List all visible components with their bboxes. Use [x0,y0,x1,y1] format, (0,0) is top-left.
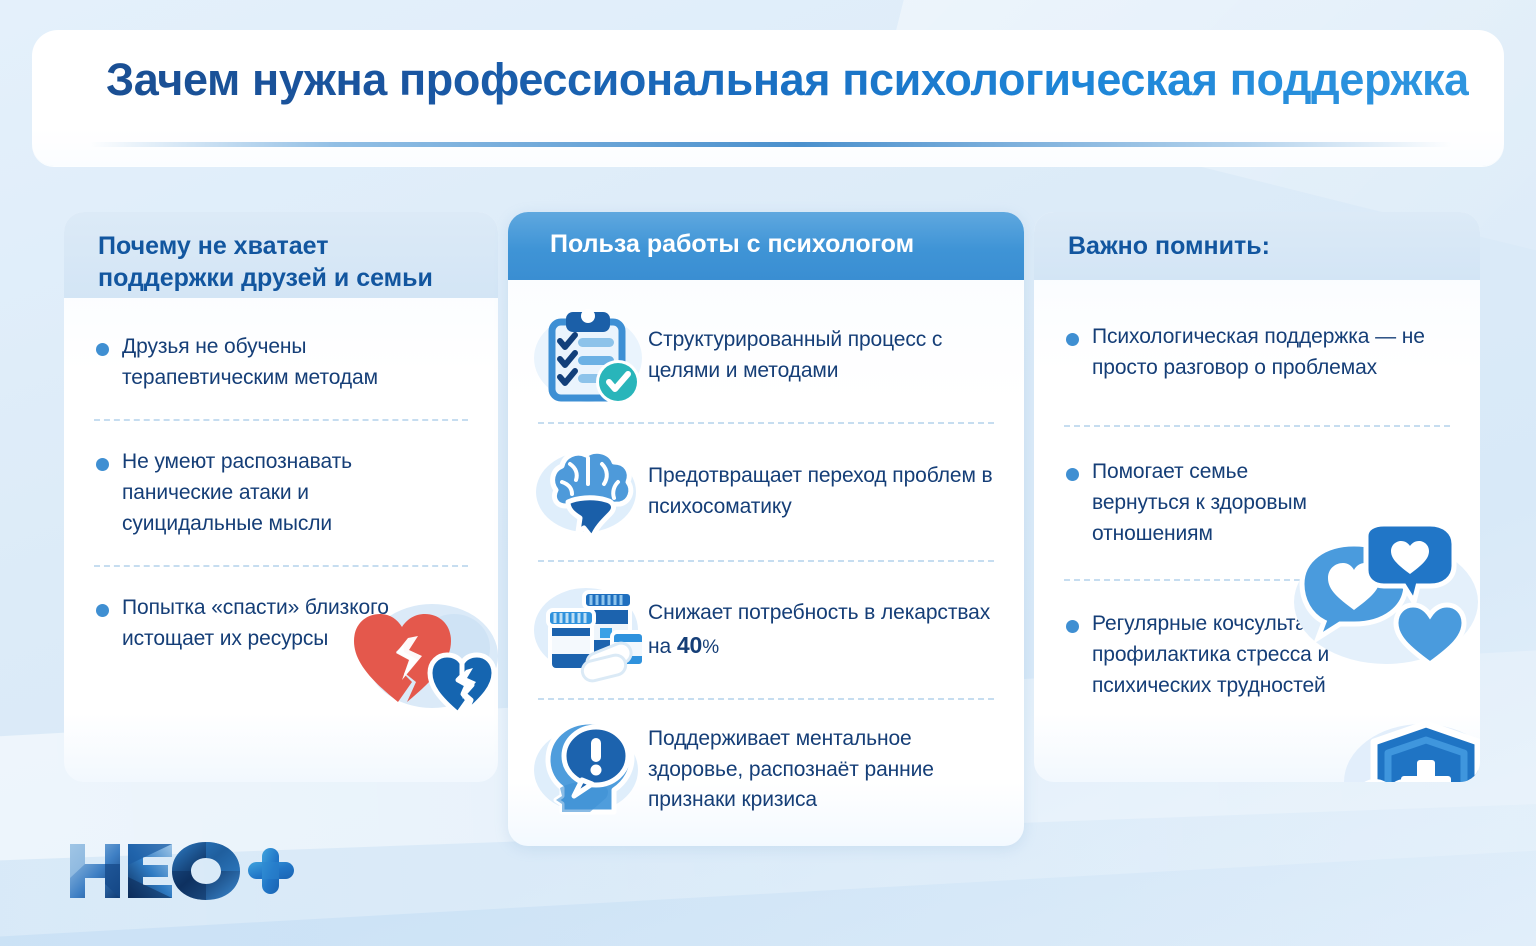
head-alert-icon [530,716,648,824]
list-item: Друзья не обучены терапевтическим метода… [64,332,498,393]
divider [538,560,994,562]
list-item: Предотвращает переход проблем в психосом… [508,438,1024,546]
shield-heart-icon [1330,718,1480,782]
column-left: Почему не хватает поддержки друзей и сем… [64,212,498,782]
column-left-header: Почему не хватает поддержки друзей и сем… [64,212,498,298]
list-item-label: Помогает семье вернуться к здоровым отно… [1092,457,1317,549]
divider [538,698,994,700]
column-right: Важно помнить: Психологическая поддержка… [1034,212,1480,782]
page-title: Зачем нужна профессиональная психологиче… [106,54,1469,106]
list-item-label: Регулярные кочсультации — профилактика с… [1092,609,1392,701]
list-item: Регулярные кочсультации — профилактика с… [1034,609,1480,701]
divider [1064,425,1450,427]
logo-neo-plus [66,838,296,904]
divider [94,565,468,567]
list-item: Структурированный процесс с целями и мет… [508,302,1024,410]
column-middle-header: Польза работы с психологом [508,212,1024,280]
list-item-label: Друзья не обучены терапевтическим метода… [122,332,472,393]
list-item: Снижает потребность в лекарствах на 40% [508,576,1024,684]
column-right-header: Важно помнить: [1034,212,1480,280]
divider [538,422,994,424]
bullet-dot-icon [96,604,109,617]
brain-icon [530,438,648,546]
bullet-dot-icon [1066,468,1079,481]
divider [1064,579,1450,581]
list-item-label: Снижает потребность в лекарствах на 40% [648,598,1000,662]
bullet-dot-icon [96,458,109,471]
bullet-dot-icon [1066,620,1079,633]
title-underline [90,142,1452,147]
list-item-label: Попытка «спасти» близкого истощает их ре… [122,593,472,654]
column-left-header-line2: поддержки друзей и семьи [98,262,464,294]
list-item-label: Не умеют распознавать панические атаки и… [122,447,402,539]
column-middle: Польза работы с психологом [508,212,1024,846]
column-right-body: Психологическая поддержка — не просто ра… [1034,322,1480,701]
column-left-header-line1: Почему не хватает [98,230,464,262]
list-item: Попытка «спасти» близкого истощает их ре… [64,593,498,654]
infographic-page: Зачем нужна профессиональная психологиче… [0,0,1536,946]
list-item-label: Структурированный процесс с целями и мет… [648,325,1000,386]
bullet-dot-icon [1066,333,1079,346]
list-item: Помогает семье вернуться к здоровым отно… [1034,457,1480,549]
list-item-label: Психологическая поддержка — не просто ра… [1092,322,1454,383]
bullet-dot-icon [96,343,109,356]
column-middle-body: Структурированный процесс с целями и мет… [508,302,1024,824]
list-item: Поддерживает ментальное здоровье, распоз… [508,716,1024,824]
divider [94,419,468,421]
title-band: Зачем нужна профессиональная психологиче… [32,30,1504,166]
percent-sign: % [702,637,719,658]
list-item: Не умеют распознавать панические атаки и… [64,447,498,539]
list-item: Психологическая поддержка — не просто ра… [1034,322,1480,383]
highlight-value: 40 [677,632,702,658]
list-item-label: Поддерживает ментальное здоровье, распоз… [648,724,1000,816]
clipboard-check-icon [530,302,648,410]
column-left-body: Друзья не обучены терапевтическим метода… [64,332,498,655]
pills-icon [530,576,648,684]
list-item-label: Предотвращает переход проблем в психосом… [648,461,1000,522]
